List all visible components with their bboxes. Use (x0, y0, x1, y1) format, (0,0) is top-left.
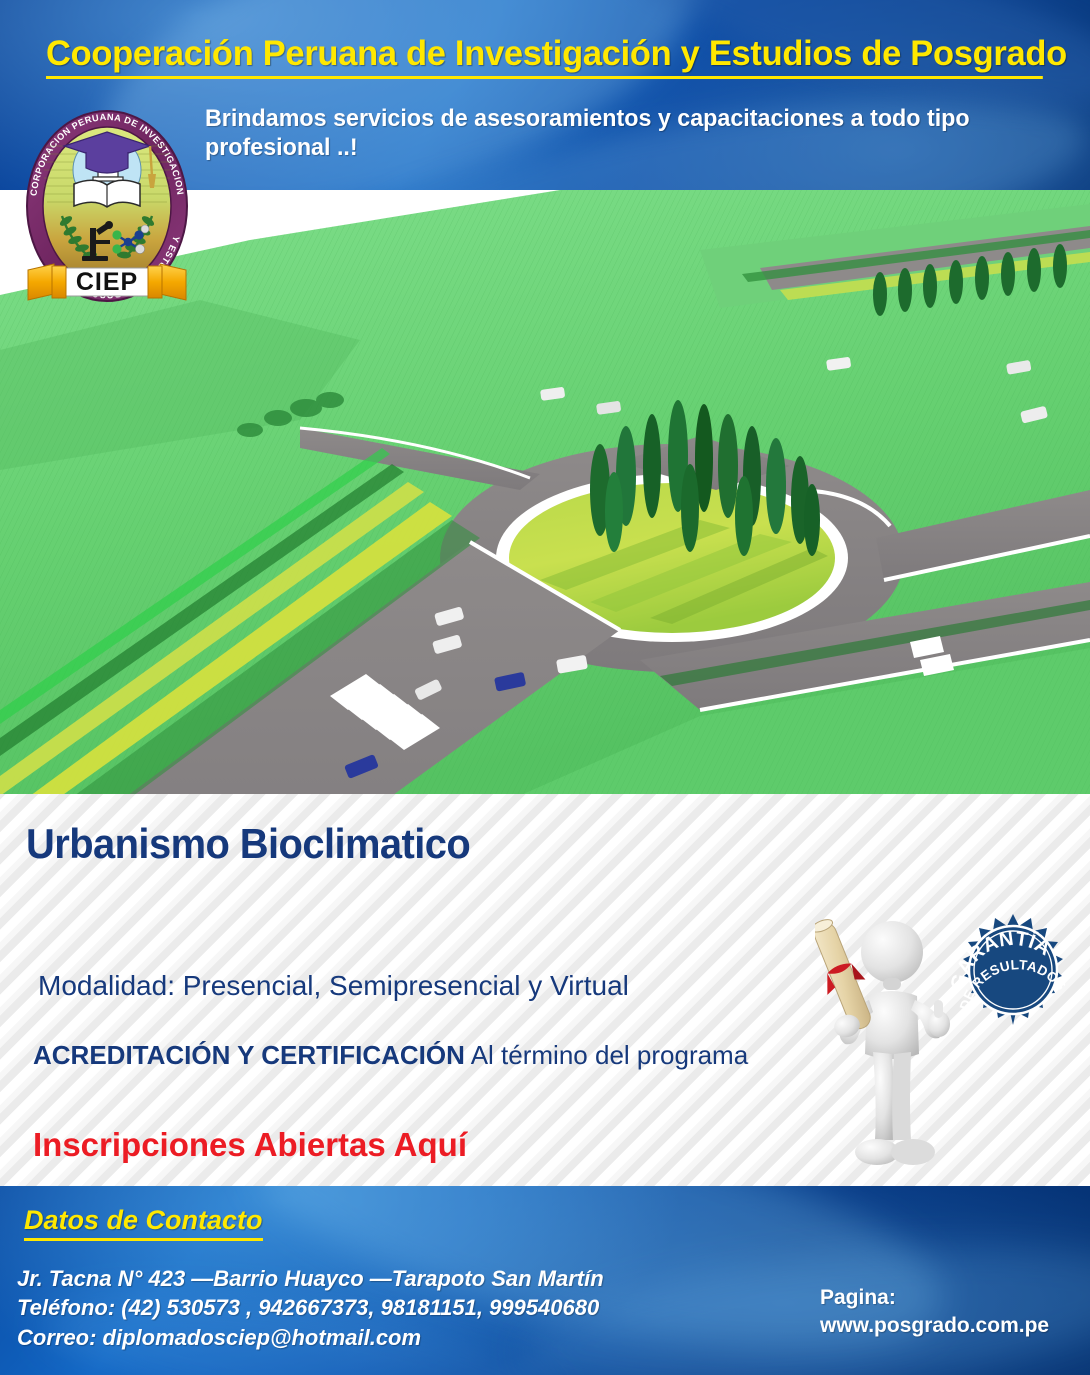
acreditacion-tail: Al término del programa (471, 1040, 748, 1070)
contact-heading: Datos de Contacto (24, 1205, 263, 1241)
website-label: Pagina: (820, 1284, 1049, 1312)
footer-contact-bar: Datos de Contacto Jr. Tacna N° 423 —Barr… (0, 1186, 1090, 1375)
acreditacion-label: ACREDITACIÓN Y CERTIFICACIÓN (33, 1040, 465, 1070)
program-title: Urbanismo Bioclimatico (26, 820, 470, 868)
contact-details: Jr. Tacna N° 423 —Barrio Huayco —Tarapot… (17, 1264, 604, 1352)
contact-address: Jr. Tacna N° 423 —Barrio Huayco —Tarapot… (17, 1264, 604, 1293)
guarantee-seal: GARANTÍA DE RESULTADOS (940, 912, 1086, 1058)
inscripciones-cta[interactable]: Inscripciones Abiertas Aquí (33, 1126, 467, 1164)
ciep-logo: CORPORACION PERUANA DE INVESTIGACION Y E… (14, 88, 200, 314)
modalidad-text: Modalidad: Presencial, Semipresencial y … (38, 970, 629, 1002)
website-url[interactable]: www.posgrado.com.pe (820, 1312, 1049, 1340)
contact-phone: Teléfono: (42) 530573 , 942667373, 98181… (17, 1293, 604, 1322)
organization-tagline: Brindamos servicios de asesoramientos y … (205, 104, 1049, 163)
acreditacion-text: ACREDITACIÓN Y CERTIFICACIÓN Al término … (33, 1039, 793, 1072)
website-block: Pagina: www.posgrado.com.pe (820, 1284, 1049, 1339)
organization-title: Cooperación Peruana de Investigación y E… (46, 36, 1043, 79)
svg-text:CIEP: CIEP (76, 268, 138, 296)
contact-email[interactable]: Correo: diplomadosciep@hotmail.com (17, 1323, 604, 1352)
program-section: Urbanismo Bioclimatico Modalidad: Presen… (0, 794, 1090, 1186)
flyer-poster: Cooperación Peruana de Investigación y E… (0, 0, 1090, 1375)
